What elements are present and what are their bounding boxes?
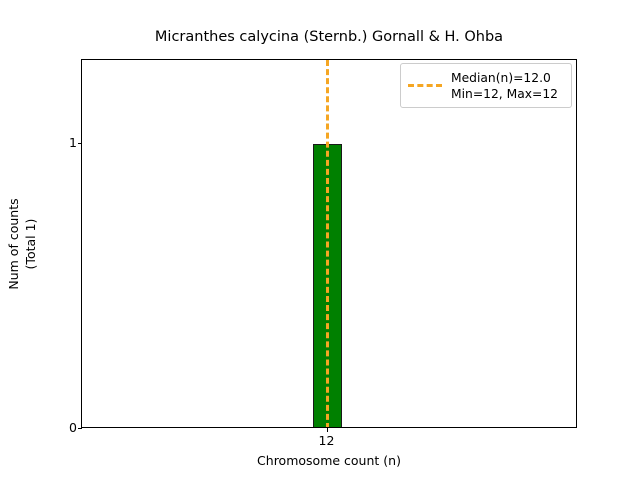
chart-figure: Micranthes calycina (Sternb.) Gornall & … bbox=[0, 0, 640, 480]
x-axis-label: Chromosome count (n) bbox=[81, 454, 577, 468]
y-axis-label-wrapper: Num of counts (Total 1) bbox=[0, 59, 44, 428]
median-reference-line bbox=[326, 60, 329, 428]
y-tick-label-1: 1 bbox=[60, 137, 77, 149]
y-axis-label-line2: (Total 1) bbox=[22, 198, 39, 289]
y-tick-label-0: 0 bbox=[60, 422, 77, 434]
legend-label-minmax: Min=12, Max=12 bbox=[451, 86, 558, 102]
x-tick-mark-12 bbox=[327, 428, 328, 432]
y-tick-mark-0 bbox=[78, 428, 82, 429]
x-tick-label-12: 12 bbox=[307, 434, 347, 448]
legend-label-median: Median(n)=12.0 bbox=[451, 70, 558, 86]
legend-dashed-line-icon bbox=[408, 84, 442, 87]
chart-title: Micranthes calycina (Sternb.) Gornall & … bbox=[81, 28, 577, 46]
y-axis-label: Num of counts (Total 1) bbox=[5, 198, 39, 289]
legend-text: Median(n)=12.0 Min=12, Max=12 bbox=[451, 70, 558, 102]
chart-legend: Median(n)=12.0 Min=12, Max=12 bbox=[400, 63, 572, 108]
plot-area bbox=[81, 59, 577, 428]
y-axis-label-line1: Num of counts bbox=[5, 198, 22, 289]
